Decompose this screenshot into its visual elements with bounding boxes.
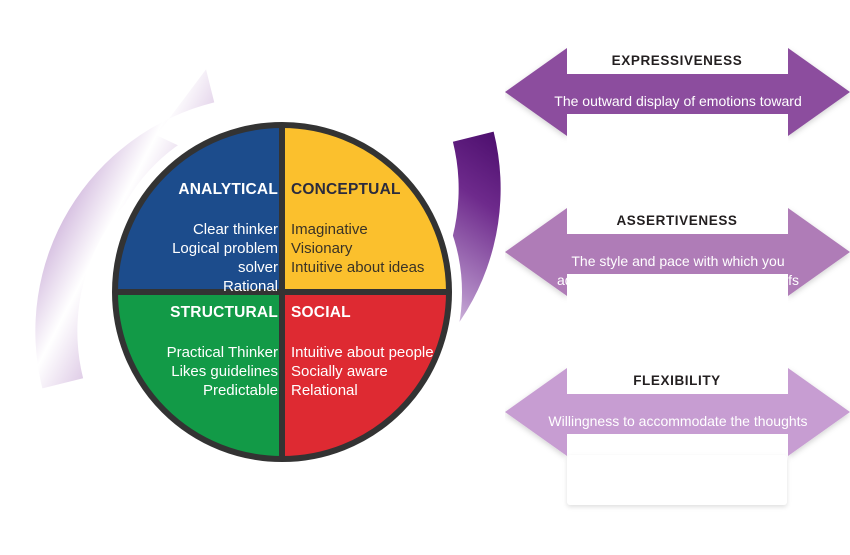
quadrant-traits-structural: Practical Thinker Likes guidelines Predi… bbox=[134, 344, 278, 401]
dimension-title-flexibility: FLEXIBILITY bbox=[567, 373, 787, 388]
quadrant-title-conceptual: CONCEPTUAL bbox=[291, 180, 441, 200]
dimension-description-expressiveness: The outward display of emotions toward o… bbox=[543, 92, 813, 129]
dimension-description-flexibility: Willingness to accommodate the thoughts … bbox=[543, 412, 813, 449]
quadrant-label-conceptual: CONCEPTUAL Imaginative Visionary Intuiti… bbox=[291, 160, 441, 298]
dimension-title-expressiveness: EXPRESSIVENESS bbox=[567, 53, 787, 68]
diagram-canvas: ANALYTICAL Clear thinker Logical problem… bbox=[0, 0, 850, 555]
dimension-expressiveness[interactable]: EXPRESSIVENESS The outward display of em… bbox=[505, 30, 850, 205]
quadrant-label-social: SOCIAL Intuitive about people Socially a… bbox=[291, 283, 451, 421]
dimension-description-assertiveness: The style and pace with which you advanc… bbox=[543, 252, 813, 289]
dimension-title-assertiveness: ASSERTIVENESS bbox=[567, 213, 787, 228]
bottom-blank-card bbox=[567, 455, 787, 505]
dimension-assertiveness[interactable]: ASSERTIVENESS The style and pace with wh… bbox=[505, 190, 850, 365]
quadrant-title-social: SOCIAL bbox=[291, 303, 451, 323]
quadrant-traits-social: Intuitive about people Socially aware Re… bbox=[291, 344, 451, 401]
quadrant-title-analytical: ANALYTICAL bbox=[138, 180, 278, 200]
quadrant-title-structural: STRUCTURAL bbox=[134, 303, 278, 323]
quadrant-traits-conceptual: Imaginative Visionary Intuitive about id… bbox=[291, 221, 441, 278]
quadrant-label-structural: STRUCTURAL Practical Thinker Likes guide… bbox=[134, 283, 278, 421]
